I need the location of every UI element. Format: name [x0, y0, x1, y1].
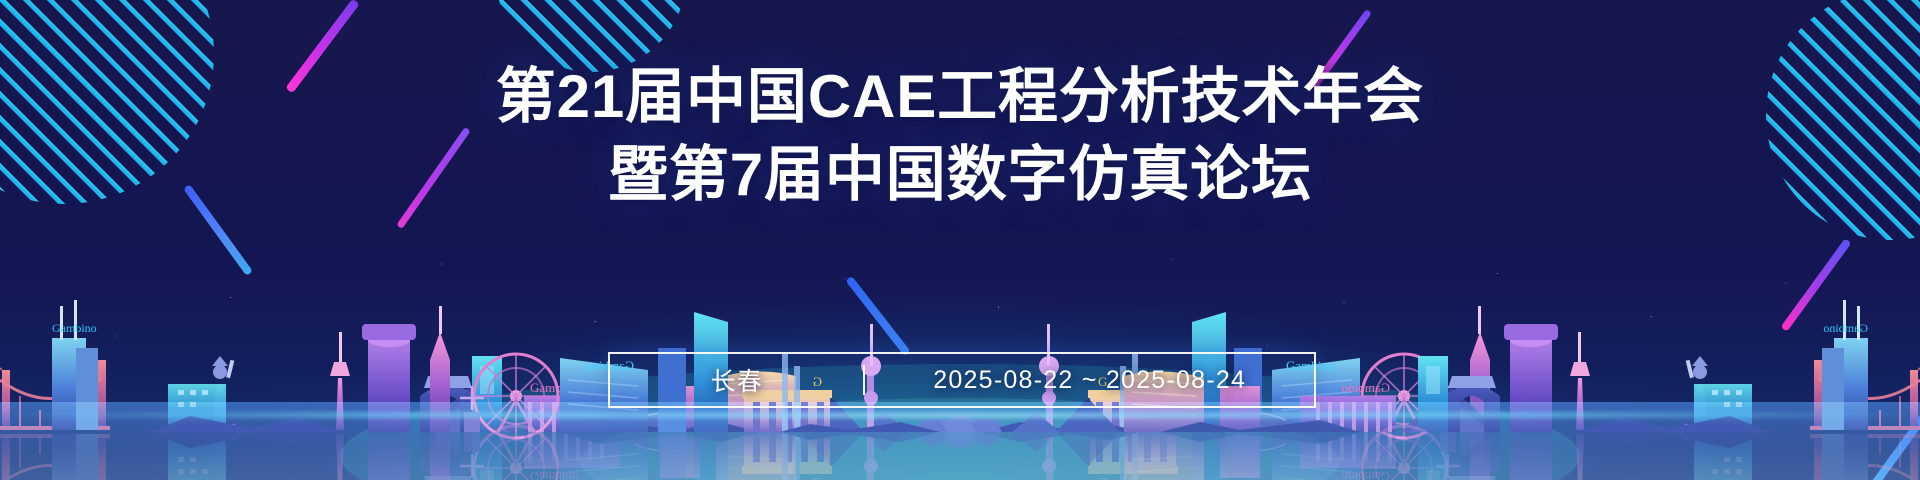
event-info-bar: 长春 2025-08-22 ~ 2025-08-24 — [608, 352, 1316, 408]
city-skyline: Gambino — [0, 220, 1920, 480]
event-city: 长春 — [610, 354, 863, 406]
event-banner: Gambino — [0, 0, 1920, 480]
event-date-range: 2025-08-22 ~ 2025-08-24 — [865, 354, 1314, 406]
